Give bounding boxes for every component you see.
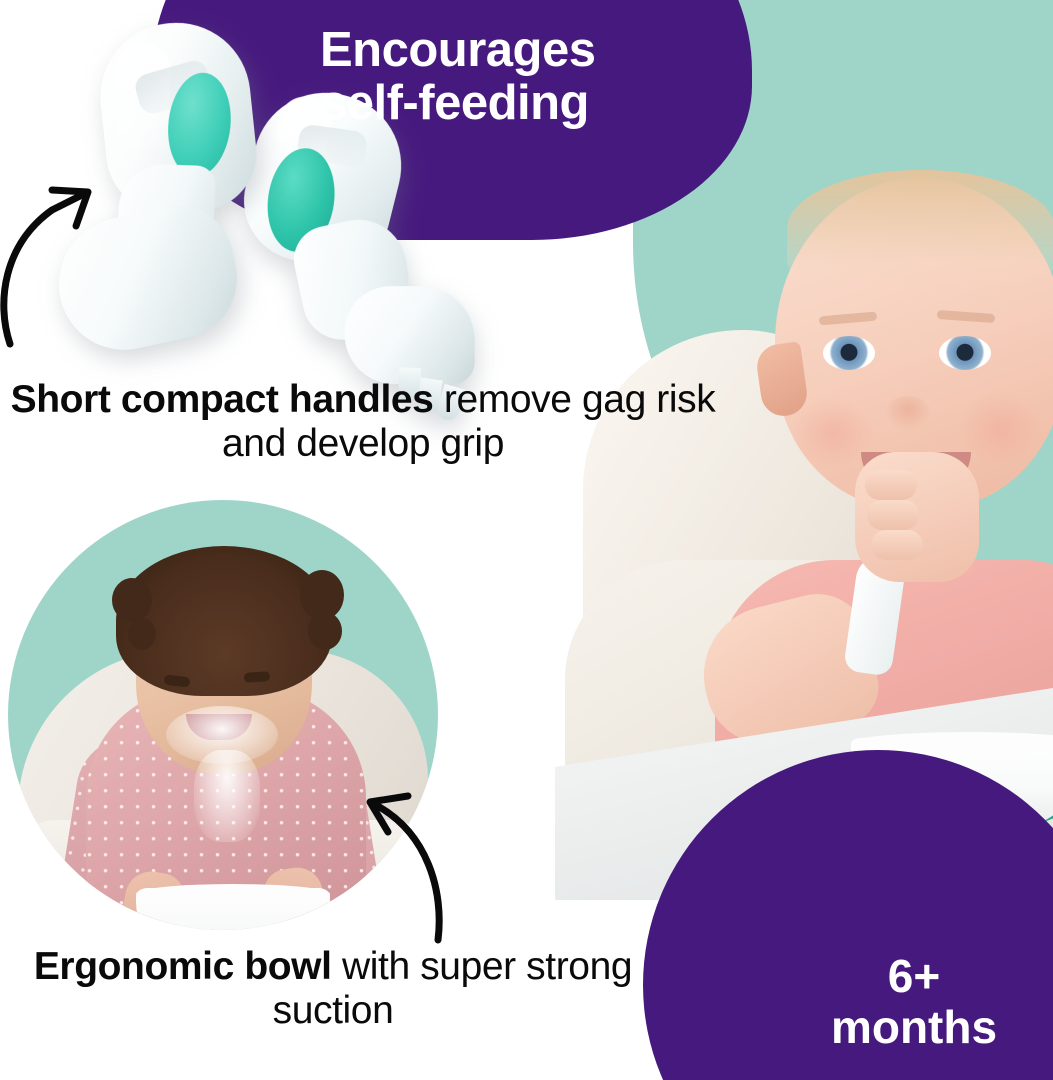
age-badge-line-1: 6+ [799, 951, 1029, 1003]
caption-handles-bold: Short compact handles [11, 378, 434, 421]
food-smear-chest [194, 750, 260, 842]
age-badge-line-2: months [799, 1002, 1029, 1054]
caption-bowl-bold: Ergonomic bowl [34, 945, 332, 988]
headline-badge-text: Encourages self-feeding [320, 24, 720, 130]
baby-spoon [38, 13, 301, 365]
caption-ergonomic-bowl: Ergonomic bowl with super strong suction [0, 945, 666, 1033]
caption-short-handles: Short compact handles remove gag risk an… [0, 378, 726, 466]
baby-nose [885, 396, 931, 430]
infographic-canvas: Encourages self-feeding Short compact ha… [0, 0, 1053, 1080]
toddler-hair-curl [112, 578, 152, 622]
baby-hair [787, 170, 1053, 288]
baby-eye-left [823, 336, 875, 370]
baby-cheek-right [959, 392, 1043, 466]
toddler-suction-bowl-rim [136, 884, 330, 904]
toddler-eye-right [244, 671, 271, 683]
spoon-bowl [46, 196, 248, 362]
baby-finger [865, 470, 917, 500]
headline-line-2: self-feeding [320, 77, 720, 130]
toddler-hair-curl [308, 612, 342, 650]
headline-line-1: Encourages [320, 23, 595, 77]
age-badge-text: 6+ months [799, 951, 1029, 1054]
photo-toddler-bowl [8, 500, 438, 930]
baby-finger [867, 500, 919, 530]
toddler-hair-curl [128, 618, 156, 650]
baby-finger [871, 530, 923, 560]
baby-eye-right [939, 336, 991, 370]
